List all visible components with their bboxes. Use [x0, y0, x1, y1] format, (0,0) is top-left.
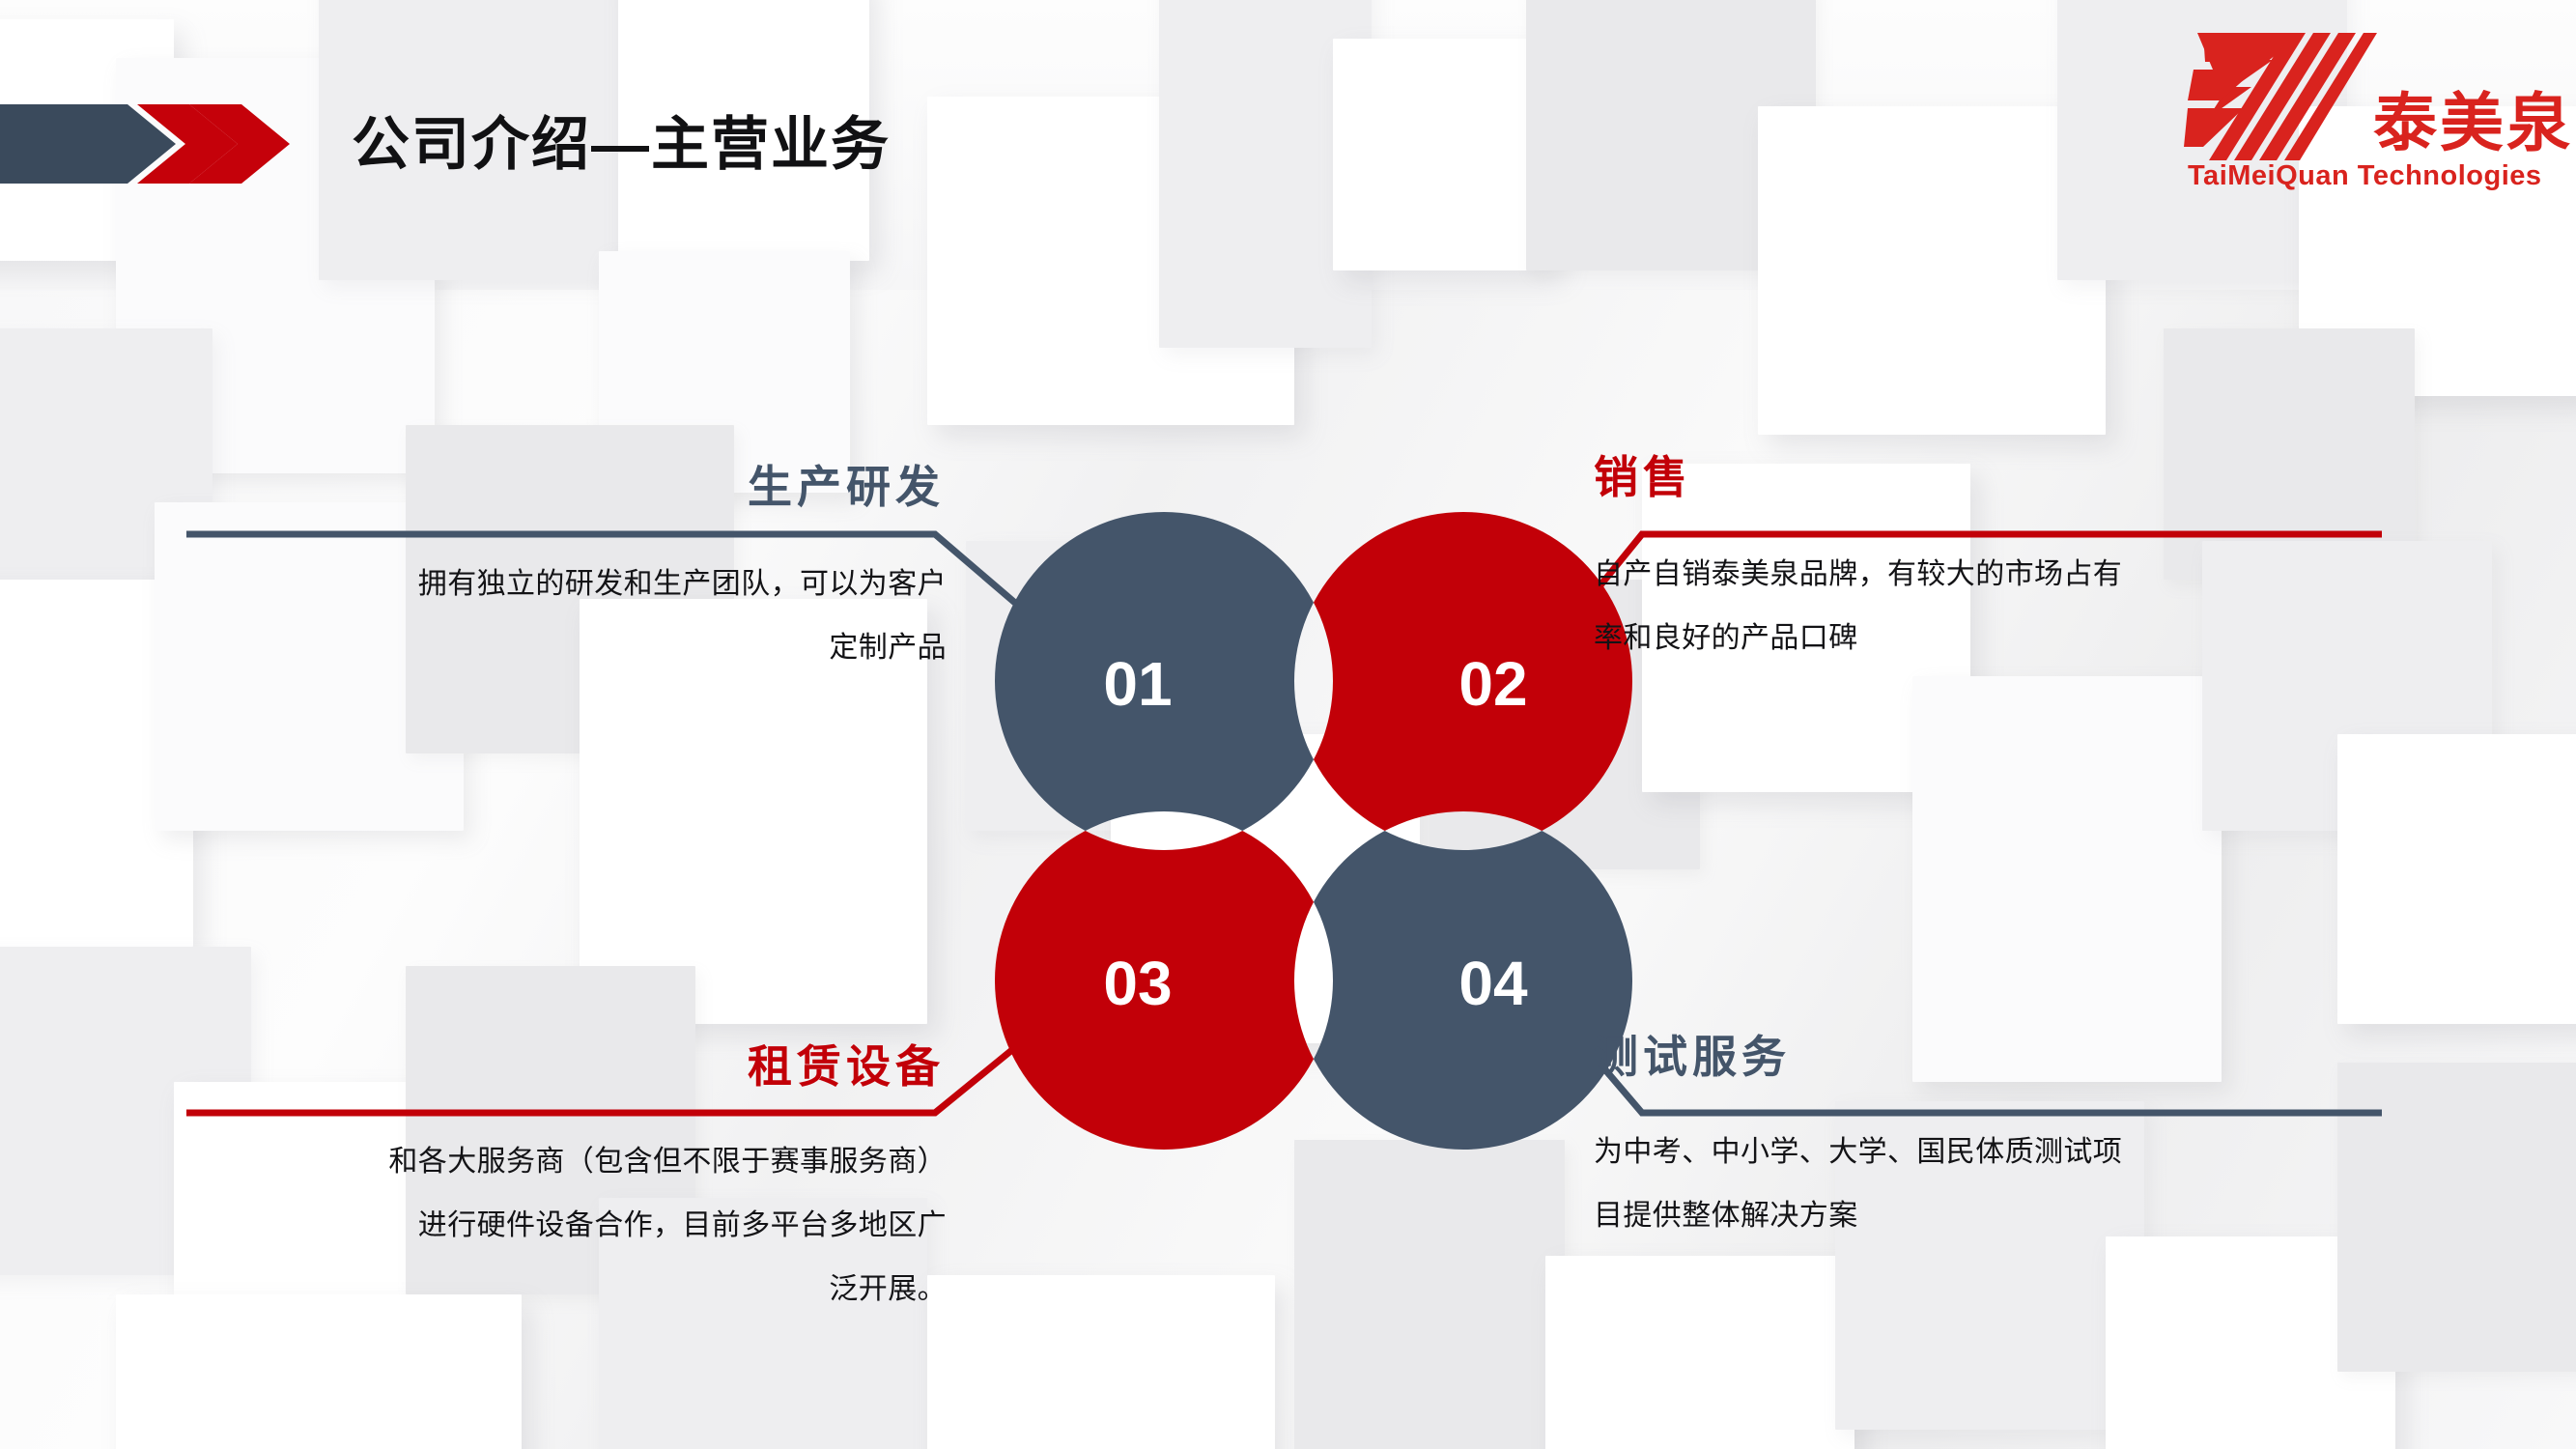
venn-number-01: 01 [1103, 649, 1172, 719]
info-heading-04: 测试服务 [1594, 1030, 2386, 1084]
info-body-line: 拥有独立的研发和生产团队，可以为客户 [184, 553, 947, 616]
info-body-03: 和各大服务商（包含但不限于赛事服务商） 进行硬件设备合作，目前多平台多地区广 泛… [184, 1130, 947, 1321]
info-body-04: 为中考、中小学、大学、国民体质测试项 目提供整体解决方案 [1594, 1121, 2386, 1248]
info-block-03: 租赁设备 和各大服务商（包含但不限于赛事服务商） 进行硬件设备合作，目前多平台多… [184, 1039, 947, 1321]
info-heading-01: 生产研发 [184, 460, 947, 514]
info-body-line: 为中考、中小学、大学、国民体质测试项 [1594, 1121, 2386, 1184]
info-body-line: 和各大服务商（包含但不限于赛事服务商） [184, 1130, 947, 1194]
info-heading-02: 销售 [1594, 450, 2386, 504]
venn-number-04: 04 [1458, 949, 1528, 1018]
info-body-line: 泛开展。 [184, 1258, 947, 1321]
info-body-line: 定制产品 [184, 616, 947, 680]
info-body-line: 进行硬件设备合作，目前多平台多地区广 [184, 1194, 947, 1258]
info-block-04: 测试服务 为中考、中小学、大学、国民体质测试项 目提供整体解决方案 [1594, 1030, 2386, 1248]
slide-canvas: 公司介绍—主营业务 泰美泉 TaiMeiQuan Technologies [0, 0, 2576, 1449]
venn-number-03: 03 [1103, 949, 1172, 1018]
venn-number-02: 02 [1458, 649, 1527, 719]
info-body-line: 目提供整体解决方案 [1594, 1184, 2386, 1248]
info-block-01: 生产研发 拥有独立的研发和生产团队，可以为客户 定制产品 [184, 460, 947, 680]
info-block-02: 销售 自产自销泰美泉品牌，有较大的市场占有 率和良好的产品口碑 [1594, 450, 2386, 670]
venn-four-circles: 01 02 03 04 [995, 512, 1632, 1150]
info-body-line: 自产自销泰美泉品牌，有较大的市场占有 [1594, 543, 2386, 607]
info-body-line: 率和良好的产品口碑 [1594, 607, 2386, 670]
info-body-01: 拥有独立的研发和生产团队，可以为客户 定制产品 [184, 553, 947, 680]
info-heading-03: 租赁设备 [184, 1039, 947, 1094]
info-body-02: 自产自销泰美泉品牌，有较大的市场占有 率和良好的产品口碑 [1594, 543, 2386, 670]
